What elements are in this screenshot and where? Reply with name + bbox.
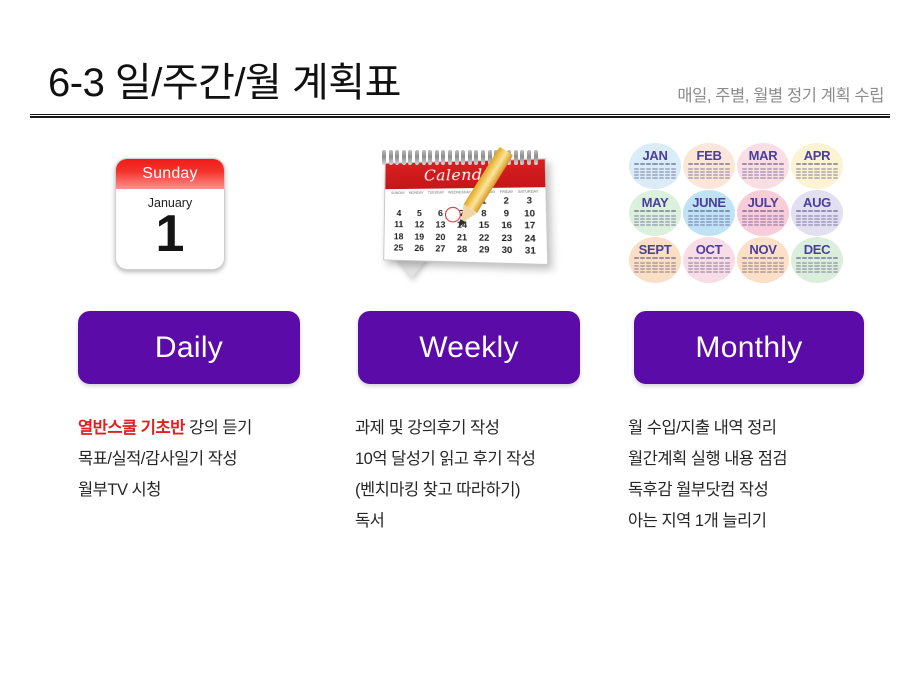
day-calendar-weekday: Sunday xyxy=(116,159,224,189)
desk-calendar-day: 4 xyxy=(392,207,406,219)
month-chip-weekday-row xyxy=(796,257,838,259)
month-chip: JULY xyxy=(737,190,789,236)
month-chip: SEPT xyxy=(629,237,681,283)
month-chip-day-grid xyxy=(634,168,676,179)
day-calendar-day-number: 1 xyxy=(116,208,224,260)
day-calendar-icon: Sunday January 1 xyxy=(115,158,225,270)
month-chip-weekday-row xyxy=(742,257,784,259)
daily-button[interactable]: Daily xyxy=(78,311,300,384)
month-chip-weekday-row xyxy=(688,163,730,165)
task-text: 아는 지역 1개 늘리기 xyxy=(628,512,766,530)
desk-calendar-day: 24 xyxy=(522,232,538,245)
month-chip: FEB xyxy=(683,143,735,189)
month-chip-label: SEPT xyxy=(629,242,681,257)
column-weekly: Calendar SUNDAYMONDAYTUESDAYWEDNESDAYTHU… xyxy=(330,140,610,290)
daily-artwork: Sunday January 1 xyxy=(50,140,330,290)
desk-calendar-spiral-binding xyxy=(382,150,538,166)
month-chip-label: JAN xyxy=(629,148,681,163)
desk-calendar-weekday: SATURDAY xyxy=(518,189,539,193)
task-text: 강의 듣기 xyxy=(185,419,252,437)
task-highlight-text: 열반스쿨 기초반 xyxy=(78,419,185,437)
desk-calendar-day: 11 xyxy=(392,219,406,231)
desk-calendar-day: 22 xyxy=(476,232,492,244)
desk-calendar-day: 25 xyxy=(391,242,405,254)
month-chip-day-grid xyxy=(742,262,784,273)
month-chip-day-grid xyxy=(742,168,784,179)
desk-calendar-day: 29 xyxy=(476,244,492,257)
desk-calendar-title: Calendar xyxy=(385,164,545,186)
desk-calendar-day: 13 xyxy=(433,219,448,231)
month-chip-day-grid xyxy=(634,262,676,273)
desk-calendar-day: 17 xyxy=(522,220,538,233)
weekly-artwork: Calendar SUNDAYMONDAYTUESDAYWEDNESDAYTHU… xyxy=(330,140,610,290)
desk-calendar-day: 30 xyxy=(499,244,515,257)
monthly-task-list: 월 수입/지출 내역 정리월간계획 실행 내용 점검독후감 월부닷컴 작성아는 … xyxy=(628,413,888,537)
month-chip-label: NOV xyxy=(737,242,789,257)
desk-calendar-day: 9 xyxy=(499,207,515,219)
desk-calendar-day: 28 xyxy=(454,243,469,256)
month-chip-day-grid xyxy=(688,215,730,226)
task-item: 목표/실적/감사일기 작성 xyxy=(78,444,338,475)
task-text: 월부TV 시청 xyxy=(78,481,161,499)
desk-calendar-icon: Calendar SUNDAYMONDAYTUESDAYWEDNESDAYTHU… xyxy=(370,148,570,284)
daily-task-list: 열반스쿨 기초반 강의 듣기목표/실적/감사일기 작성월부TV 시청 xyxy=(78,413,338,506)
month-chip-day-grid xyxy=(796,215,838,226)
task-text: 과제 및 강의후기 작성 xyxy=(355,419,499,437)
desk-calendar-day: 31 xyxy=(522,245,539,258)
desk-calendar-day: 5 xyxy=(412,207,426,219)
desk-calendar-day xyxy=(412,196,426,208)
desk-calendar-day: 2 xyxy=(498,195,514,207)
desk-calendar-day xyxy=(392,196,406,208)
desk-calendar-day: 21 xyxy=(454,231,469,243)
desk-calendar-weekday: FRIDAY xyxy=(500,190,514,194)
desk-calendar-day: 10 xyxy=(521,207,537,219)
desk-calendar-day: 18 xyxy=(392,231,406,243)
monthly-artwork: JANFEBMARAPRMAYJUNEJULYAUGSEPTOCTNOVDEC xyxy=(610,140,890,290)
task-item: 아는 지역 1개 늘리기 xyxy=(628,506,888,537)
month-chip-weekday-row xyxy=(634,210,676,212)
slide-header: 6-3 일/주간/월 계획표 매일, 주별, 월별 정기 계획 수립 xyxy=(30,52,890,118)
month-chip: APR xyxy=(791,143,843,189)
task-text: 독후감 월부닷컴 작성 xyxy=(628,481,768,499)
month-chip-day-grid xyxy=(796,168,838,179)
month-chip-label: JUNE xyxy=(683,195,735,210)
desk-calendar-day: 27 xyxy=(433,243,448,255)
month-chip-day-grid xyxy=(688,262,730,273)
task-text: 목표/실적/감사일기 작성 xyxy=(78,450,237,468)
month-chip: OCT xyxy=(683,237,735,283)
month-chip: JAN xyxy=(629,143,681,189)
month-chip-weekday-row xyxy=(742,210,784,212)
task-item: 월 수입/지출 내역 정리 xyxy=(628,413,888,444)
desk-calendar-day: 16 xyxy=(499,220,515,232)
month-chip: MAY xyxy=(629,190,681,236)
weekly-task-list: 과제 및 강의후기 작성10억 달성기 읽고 후기 작성(벤치마킹 찾고 따라하… xyxy=(355,413,615,537)
task-item: 월부TV 시청 xyxy=(78,475,338,506)
task-item: 열반스쿨 기초반 강의 듣기 xyxy=(78,413,338,444)
month-chip-weekday-row xyxy=(688,210,730,212)
month-chip: AUG xyxy=(791,190,843,236)
month-chip-weekday-row xyxy=(796,163,838,165)
month-chip-label: APR xyxy=(791,148,843,163)
month-chip-label: AUG xyxy=(791,195,843,210)
month-chip-label: FEB xyxy=(683,148,735,163)
column-monthly: JANFEBMARAPRMAYJUNEJULYAUGSEPTOCTNOVDEC … xyxy=(610,140,890,290)
desk-calendar-day: 15 xyxy=(476,219,492,231)
weekly-button[interactable]: Weekly xyxy=(358,311,580,384)
desk-calendar-day xyxy=(433,196,448,208)
month-chip: DEC xyxy=(791,237,843,283)
page-subtitle: 매일, 주별, 월별 정기 계획 수립 xyxy=(677,82,884,106)
month-chip-day-grid xyxy=(634,215,676,226)
desk-calendar-week-row: 25262728293031 xyxy=(384,242,547,258)
month-grid-icon: JANFEBMARAPRMAYJUNEJULYAUGSEPTOCTNOVDEC xyxy=(628,142,844,284)
desk-calendar-weekday: WEDNESDAY xyxy=(448,190,471,194)
task-item: (벤치마킹 찾고 따라하기) xyxy=(355,475,615,506)
desk-calendar-day: 12 xyxy=(412,219,426,231)
desk-calendar-day: 19 xyxy=(412,231,426,243)
month-chip-label: JULY xyxy=(737,195,789,210)
month-chip-day-grid xyxy=(796,262,838,273)
month-chip: JUNE xyxy=(683,190,735,236)
header-divider-rule xyxy=(30,114,890,118)
task-item: 과제 및 강의후기 작성 xyxy=(355,413,615,444)
month-chip: MAR xyxy=(737,143,789,189)
task-item: 독서 xyxy=(355,506,615,537)
desk-calendar-day: 20 xyxy=(433,231,448,243)
month-chip-label: OCT xyxy=(683,242,735,257)
month-chip-weekday-row xyxy=(796,210,838,212)
monthly-button[interactable]: Monthly xyxy=(634,311,864,384)
task-item: 독후감 월부닷컴 작성 xyxy=(628,475,888,506)
task-item: 월간계획 실행 내용 점검 xyxy=(628,444,888,475)
task-text: 월간계획 실행 내용 점검 xyxy=(628,450,787,468)
month-chip-weekday-row xyxy=(634,257,676,259)
month-chip-day-grid xyxy=(688,168,730,179)
month-chip-weekday-row xyxy=(688,257,730,259)
task-text: (벤치마킹 찾고 따라하기) xyxy=(355,481,520,499)
month-chip-label: DEC xyxy=(791,242,843,257)
desk-calendar-weekday: TUESDAY xyxy=(428,190,444,194)
column-daily: Sunday January 1 Daily 열반스쿨 기초반 강의 듣기목표/… xyxy=(50,140,330,290)
desk-calendar-day: 3 xyxy=(521,195,537,207)
desk-calendar-weekday: MONDAY xyxy=(409,191,424,195)
page-title: 6-3 일/주간/월 계획표 xyxy=(48,50,401,108)
task-text: 10억 달성기 읽고 후기 작성 xyxy=(355,450,536,468)
month-chip-label: MAR xyxy=(737,148,789,163)
month-chip-weekday-row xyxy=(634,163,676,165)
desk-calendar-day: 26 xyxy=(412,243,427,255)
month-chip-weekday-row xyxy=(742,163,784,165)
desk-calendar-day: 23 xyxy=(499,232,515,245)
month-chip-day-grid xyxy=(742,215,784,226)
task-item: 10억 달성기 읽고 후기 작성 xyxy=(355,444,615,475)
month-chip: NOV xyxy=(737,237,789,283)
task-text: 독서 xyxy=(355,512,384,530)
desk-calendar-weekday: SUNDAY xyxy=(391,191,405,195)
task-text: 월 수입/지출 내역 정리 xyxy=(628,419,776,437)
month-chip-label: MAY xyxy=(629,195,681,210)
